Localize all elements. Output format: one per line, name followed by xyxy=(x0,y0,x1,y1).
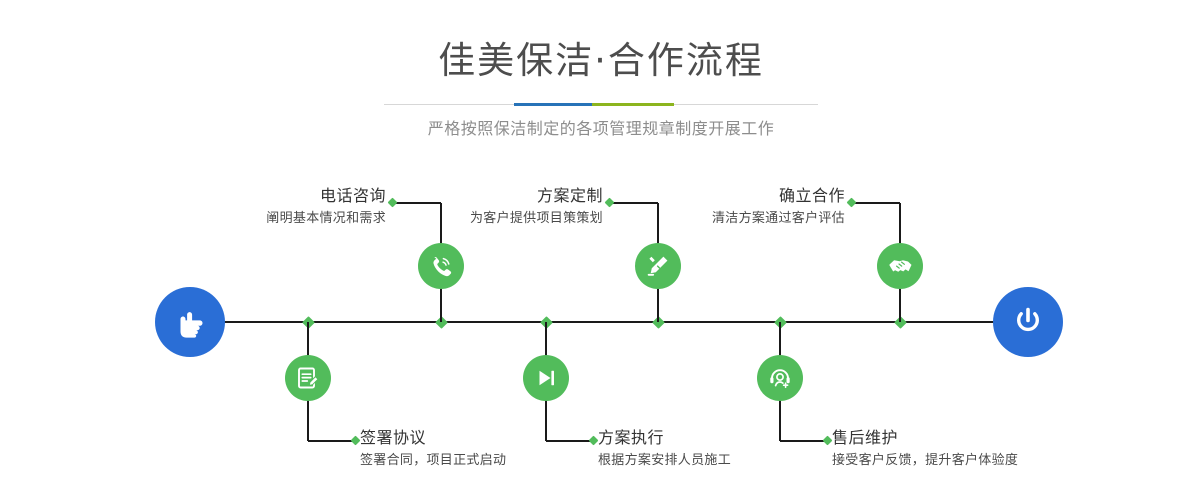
process-timeline: 电话咨询 阐明基本情况和需求 签署协议 签署合同，项目正式启动 xyxy=(0,0,1202,502)
step-icon-2 xyxy=(285,355,331,401)
play-skip-icon xyxy=(534,366,558,390)
step-title-2: 签署协议 xyxy=(360,428,620,448)
step-icon-4 xyxy=(523,355,569,401)
document-edit-icon xyxy=(295,365,321,391)
label-marker-step-2 xyxy=(351,436,361,446)
power-icon xyxy=(1009,303,1047,341)
step-icon-3 xyxy=(635,243,681,289)
step-label-5: 确立合作 清洁方案通过客户评估 xyxy=(630,186,845,228)
timeline-start-endpoint xyxy=(155,287,225,357)
step-title-5: 确立合作 xyxy=(630,186,845,206)
step-label-6: 售后维护 接受客户反馈，提升客户体验度 xyxy=(832,428,1112,470)
step-desc-6: 接受客户反馈，提升客户体验度 xyxy=(832,451,1112,470)
pencil-design-icon xyxy=(645,253,671,279)
label-marker-step-3 xyxy=(605,198,615,208)
step-label-2: 签署协议 签署合同，项目正式启动 xyxy=(360,428,620,470)
step-desc-5: 清洁方案通过客户评估 xyxy=(630,209,845,228)
connector-leader-step-5 xyxy=(852,202,900,204)
step-icon-6 xyxy=(757,355,803,401)
customer-service-icon xyxy=(767,365,793,391)
step-label-4: 方案执行 根据方案安排人员施工 xyxy=(598,428,858,470)
step-icon-5 xyxy=(877,243,923,289)
phone-call-icon xyxy=(428,253,454,279)
connector-leader-step-2 xyxy=(308,440,356,442)
step-desc-1: 阐明基本情况和需求 xyxy=(150,209,386,228)
step-title-6: 售后维护 xyxy=(832,428,1112,448)
step-label-1: 电话咨询 阐明基本情况和需求 xyxy=(150,186,386,228)
handshake-icon xyxy=(887,253,914,280)
connector-leader-step-4 xyxy=(546,440,594,442)
step-desc-4: 根据方案安排人员施工 xyxy=(598,451,858,470)
timeline-end-endpoint xyxy=(993,287,1063,357)
label-marker-step-5 xyxy=(847,198,857,208)
hand-pointing-icon xyxy=(170,302,210,342)
connector-leader-step-6 xyxy=(780,440,828,442)
step-title-3: 方案定制 xyxy=(395,186,603,206)
step-icon-1 xyxy=(418,243,464,289)
step-desc-2: 签署合同，项目正式启动 xyxy=(360,451,620,470)
step-title-1: 电话咨询 xyxy=(150,186,386,206)
step-desc-3: 为客户提供项目策策划 xyxy=(395,209,603,228)
step-title-4: 方案执行 xyxy=(598,428,858,448)
step-label-3: 方案定制 为客户提供项目策策划 xyxy=(395,186,603,228)
